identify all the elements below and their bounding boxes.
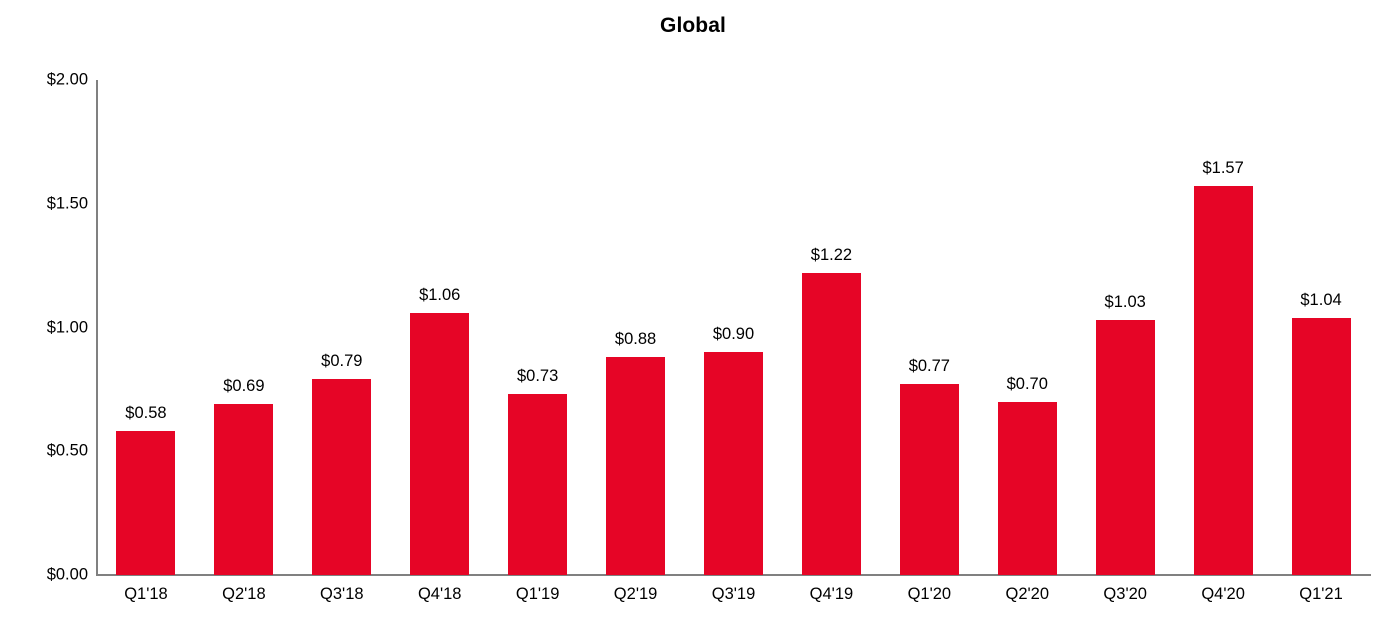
- x-axis-tick-label: Q1'21: [1299, 585, 1343, 604]
- bar-value-label: $0.90: [713, 325, 754, 344]
- bar-value-label: $1.22: [811, 246, 852, 265]
- bar[interactable]: [998, 402, 1057, 575]
- x-axis-tick-label: Q4'18: [418, 585, 462, 604]
- bar-group: $1.06: [410, 80, 469, 575]
- bar-group: $0.90: [704, 80, 763, 575]
- y-axis-tick-label: $0.00: [2, 566, 88, 585]
- bar-group: $1.04: [1292, 80, 1351, 575]
- bar-group: $1.03: [1096, 80, 1155, 575]
- bar-group: $0.73: [508, 80, 567, 575]
- bar-group: $0.77: [900, 80, 959, 575]
- x-axis-tick-label: Q4'19: [810, 585, 854, 604]
- bar-value-label: $1.03: [1105, 293, 1146, 312]
- x-axis-tick-label: Q4'20: [1201, 585, 1245, 604]
- y-axis-tick-label: $1.50: [2, 194, 88, 213]
- bar-value-label: $0.77: [909, 357, 950, 376]
- x-axis-tick-label: Q1'19: [516, 585, 560, 604]
- bar-value-label: $0.79: [321, 352, 362, 371]
- y-axis-tick-label: $0.50: [2, 442, 88, 461]
- bar[interactable]: [508, 394, 567, 575]
- plot-area: $0.58$0.69$0.79$1.06$0.73$0.88$0.90$1.22…: [97, 80, 1370, 575]
- bar-value-label: $0.73: [517, 367, 558, 386]
- y-axis-tick-label: $2.00: [2, 71, 88, 90]
- bar-group: $0.58: [116, 80, 175, 575]
- bar-value-label: $0.88: [615, 330, 656, 349]
- chart-title: Global: [0, 14, 1386, 38]
- bar[interactable]: [704, 352, 763, 575]
- bar[interactable]: [606, 357, 665, 575]
- bar[interactable]: [802, 273, 861, 575]
- bar-value-label: $0.58: [125, 404, 166, 423]
- bar[interactable]: [116, 431, 175, 575]
- x-axis-tick-label: Q2'19: [614, 585, 658, 604]
- x-axis-tick-label: Q3'18: [320, 585, 364, 604]
- x-axis-tick-label: Q2'20: [1006, 585, 1050, 604]
- bar[interactable]: [1292, 318, 1351, 575]
- bar[interactable]: [214, 404, 273, 575]
- bar-value-label: $0.70: [1007, 375, 1048, 394]
- bar-group: $0.69: [214, 80, 273, 575]
- x-axis-tick-label: Q1'20: [908, 585, 952, 604]
- bar-chart: Global $0.00$0.50$1.00$1.50$2.00 $0.58$0…: [0, 0, 1386, 630]
- bar-value-label: $0.69: [223, 377, 264, 396]
- bar[interactable]: [312, 379, 371, 575]
- x-axis-tick-label: Q1'18: [124, 585, 168, 604]
- bar[interactable]: [1096, 320, 1155, 575]
- y-axis-tick-labels: $0.00$0.50$1.00$1.50$2.00: [0, 0, 88, 630]
- x-axis-tick-label: Q3'19: [712, 585, 756, 604]
- bar-value-label: $1.04: [1300, 291, 1341, 310]
- bar-value-label: $1.57: [1202, 159, 1243, 178]
- bar[interactable]: [1194, 186, 1253, 575]
- bar[interactable]: [900, 384, 959, 575]
- bar-value-label: $1.06: [419, 286, 460, 305]
- bar-group: $1.57: [1194, 80, 1253, 575]
- bar-group: $0.70: [998, 80, 1057, 575]
- bar-group: $1.22: [802, 80, 861, 575]
- bar-group: $0.79: [312, 80, 371, 575]
- bar-group: $0.88: [606, 80, 665, 575]
- x-axis-tick-label: Q2'18: [222, 585, 266, 604]
- x-axis-tick-label: Q3'20: [1103, 585, 1147, 604]
- y-axis-tick-label: $1.00: [2, 318, 88, 337]
- bar[interactable]: [410, 313, 469, 575]
